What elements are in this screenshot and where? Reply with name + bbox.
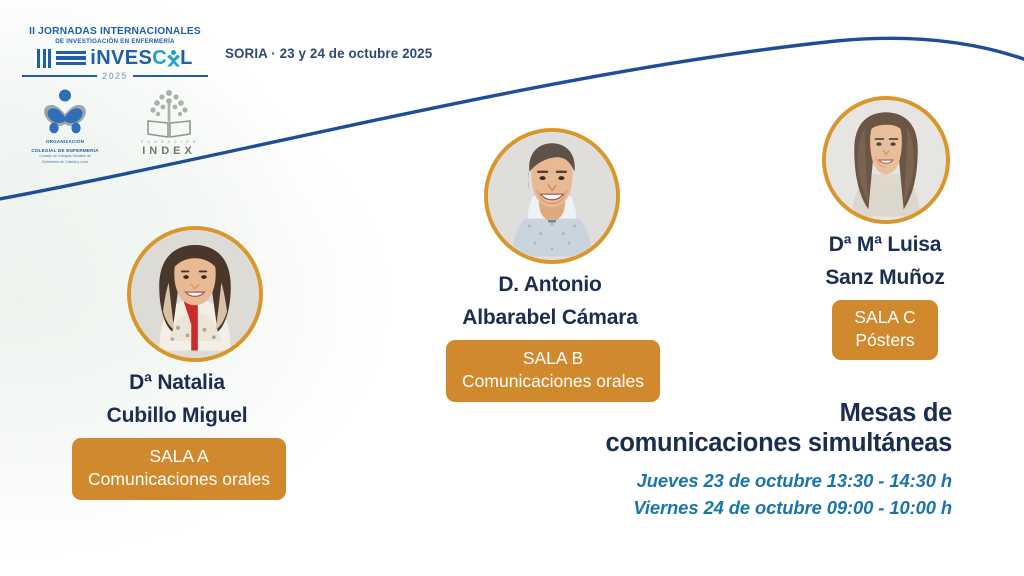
tree-book-emblem-icon — [143, 88, 195, 140]
poster-canvas: II JORNADAS INTERNACIONALES DE INVESTIGA… — [0, 0, 1024, 576]
org-caption-line-1: ORGANIZACIÓN — [46, 139, 84, 145]
org-logo-colegial: ORGANIZACIÓN COLEGIAL DE ENFERMERÍA Cons… — [26, 88, 104, 164]
portrait-antonio-illustration — [488, 132, 616, 260]
speaker-name-line-1: Dª Natalia — [12, 370, 342, 395]
schedule-line-thursday: Jueves 23 de octubre 13:30 - 14:30 h — [606, 467, 953, 494]
speaker-name-line-1: Dª Mª Luisa — [760, 232, 1010, 257]
schedule-line-friday: Viernes 24 de octubre 09:00 - 10:00 h — [606, 494, 953, 521]
speaker-name-line-2: Cubillo Miguel — [12, 403, 342, 428]
org-logo-index: F U N D A C I Ó N INDEX — [130, 88, 208, 157]
avatar-natalia — [127, 226, 263, 362]
three-bars-icon — [37, 49, 51, 68]
logo-line-2: DE INVESTIGACIÓN EN ENFERMERÍA — [22, 38, 208, 45]
session-title-line-1: Mesas de — [606, 398, 953, 428]
room-badge-line-1: SALA B — [462, 347, 644, 370]
wordmark-prefix: iNVES — [90, 48, 152, 68]
org-sub-line-1: Consejo de Colegios Oficiales de — [39, 154, 91, 158]
index-kicker: F U N D A C I Ó N — [141, 140, 197, 144]
wordmark-suffix: L — [180, 48, 193, 68]
logo-line-1: II JORNADAS INTERNACIONALES — [22, 26, 208, 37]
speaker-card-sala-a: Dª Natalia Cubillo Miguel SALA A Comunic… — [12, 226, 342, 500]
room-badge-line-1: SALA C — [854, 306, 915, 329]
session-title-line-2: comunicaciones simultáneas — [606, 428, 953, 458]
location-date: SORIA · 23 y 24 de octubre 2025 — [225, 46, 432, 61]
avatar-maria-luisa — [822, 96, 950, 224]
org-sub-line-2: Enfermería de Castilla y León — [42, 160, 88, 164]
org-caption-line-2: COLEGIAL DE ENFERMERÍA — [31, 148, 98, 154]
room-badge-line-2: Pósters — [854, 329, 915, 352]
room-badge-sala-b: SALA B Comunicaciones orales — [446, 340, 660, 402]
avatar-antonio — [484, 128, 620, 264]
logo-year-rule: 2025 — [22, 71, 208, 81]
person-glyph-icon — [167, 50, 180, 67]
event-logo: II JORNADAS INTERNACIONALES DE INVESTIGA… — [22, 26, 208, 81]
nurse-emblem-icon — [37, 88, 93, 136]
room-badge-line-2: Comunicaciones orales — [462, 370, 644, 393]
room-badge-sala-c: SALA C Pósters — [832, 300, 937, 360]
index-wordmark: INDEX — [142, 145, 196, 157]
portrait-natalia-illustration — [131, 230, 259, 358]
organization-logos: ORGANIZACIÓN COLEGIAL DE ENFERMERÍA Cons… — [26, 88, 208, 164]
room-badge-sala-a: SALA A Comunicaciones orales — [72, 438, 286, 500]
session-info-block: Mesas de comunicaciones simultáneas Juev… — [606, 398, 953, 521]
logo-wordmark: iNVES C L — [22, 48, 208, 68]
logo-year: 2025 — [102, 71, 128, 81]
speaker-name-line-2: Albarabel Cámara — [390, 305, 710, 330]
speaker-name-line-1: D. Antonio — [390, 272, 710, 297]
speaker-card-sala-b: D. Antonio Albarabel Cámara SALA B Comun… — [390, 128, 710, 402]
wordmark-c: C — [152, 48, 167, 68]
portrait-maria-luisa-illustration — [826, 100, 946, 220]
session-schedule: Jueves 23 de octubre 13:30 - 14:30 h Vie… — [606, 467, 953, 521]
speaker-card-sala-c: Dª Mª Luisa Sanz Muñoz SALA C Pósters — [760, 96, 1010, 360]
wordmark-text: iNVES C L — [90, 48, 193, 68]
speaker-name-line-2: Sanz Muñoz — [760, 265, 1010, 290]
room-badge-line-2: Comunicaciones orales — [88, 468, 270, 491]
equalizer-bars-icon — [56, 51, 86, 66]
room-badge-line-1: SALA A — [88, 445, 270, 468]
